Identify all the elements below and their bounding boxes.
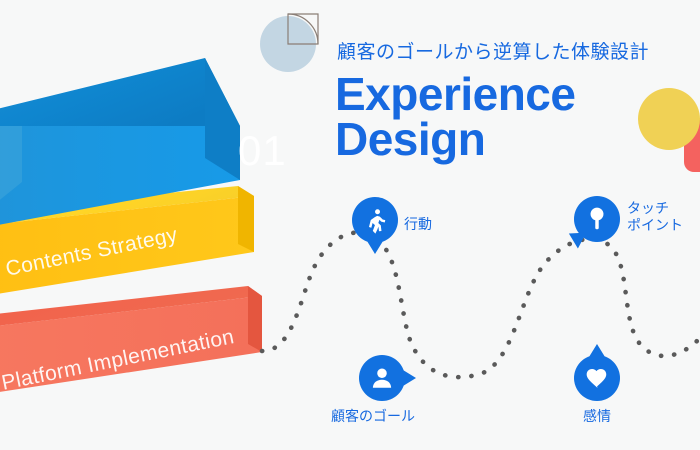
journey-label-emotion: 感情 bbox=[583, 408, 611, 426]
running-person-icon bbox=[352, 197, 398, 243]
slide-canvas: 01 Contents Strategy Platform Implementa… bbox=[0, 0, 700, 450]
journey-pin-touchpoint[interactable] bbox=[574, 196, 620, 242]
journey-pin-goal[interactable] bbox=[359, 355, 405, 401]
page-title: Experience Design bbox=[335, 72, 575, 161]
journey-label-touchpoint-line1: タッチ bbox=[627, 200, 683, 217]
journey-label-touchpoint: タッチ ポイント bbox=[627, 200, 683, 234]
journey-pin-emotion[interactable] bbox=[574, 355, 620, 401]
subtitle: 顧客のゴールから逆算した体験設計 bbox=[337, 37, 649, 64]
pin-tail bbox=[367, 241, 383, 254]
pin-tail bbox=[403, 370, 416, 386]
yellow-circle-shape bbox=[638, 88, 700, 150]
stacked-blocks-graphic: 01 Contents Strategy Platform Implementa… bbox=[0, 0, 330, 430]
journey-label-touchpoint-line2: ポイント bbox=[627, 217, 683, 234]
pin-tail bbox=[589, 344, 605, 357]
stack-number: 01 bbox=[238, 130, 287, 172]
journey-label-action: 行動 bbox=[404, 216, 432, 234]
journey-label-goal: 顧客のゴール bbox=[331, 408, 415, 426]
title-line-2: Design bbox=[335, 117, 575, 162]
journey-pin-action[interactable] bbox=[352, 197, 398, 243]
title-line-1: Experience bbox=[335, 72, 575, 117]
heart-icon bbox=[574, 355, 620, 401]
user-icon bbox=[359, 355, 405, 401]
